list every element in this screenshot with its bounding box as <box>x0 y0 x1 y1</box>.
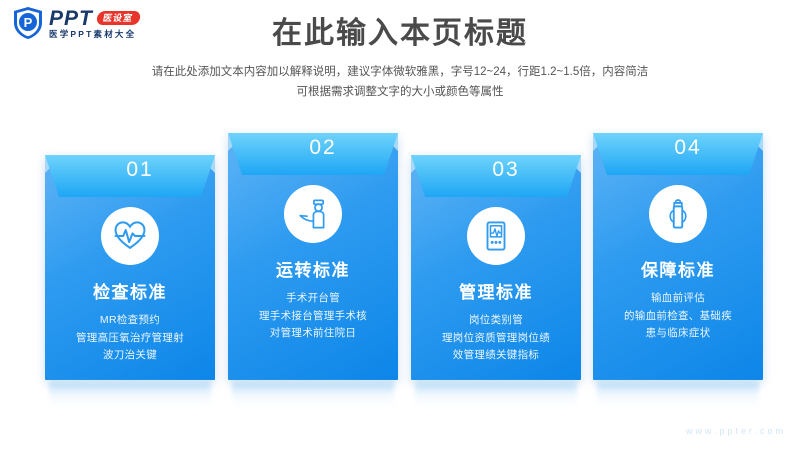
card-04-title: 保障标准 <box>641 261 715 281</box>
card-01-desc: MR检查预约 管理高压氧治疗管理射 波刀治关键 <box>76 312 184 364</box>
card-03-title: 管理标准 <box>459 283 533 303</box>
card-02-body[interactable]: 运转标准 手术开台管 理手术接台管理手术核 对管理术前住院日 <box>228 133 398 380</box>
card-02-desc: 手术开台管 理手术接台管理手术核 对管理术前住院日 <box>259 290 367 342</box>
card-01[interactable]: 检查标准 MR检查预约 管理高压氧治疗管理射 波刀治关键 <box>45 155 215 380</box>
card-04[interactable]: 保障标准 输血前评估 的输血前检查、基础疾 患与临床症状 <box>593 133 763 380</box>
card-04-desc-line-3: 患与临床症状 <box>624 325 732 342</box>
card-01-number: 01 <box>55 157 215 183</box>
card-02-desc-line-1: 手术开台管 <box>259 290 367 307</box>
card-03-desc-line-3: 效管理绩关键指标 <box>442 347 550 364</box>
card-04-desc-line-2: 的输血前检查、基础疾 <box>624 308 732 325</box>
card-02-reflection <box>232 382 394 408</box>
card-02-desc-line-3: 对管理术前住院日 <box>259 325 367 342</box>
card-02-title: 运转标准 <box>276 261 350 281</box>
card-03-number: 03 <box>421 157 581 183</box>
card-02[interactable]: 运转标准 手术开台管 理手术接台管理手术核 对管理术前住院日 <box>228 133 398 380</box>
card-03-desc-line-1: 岗位类别管 <box>442 312 550 329</box>
card-03-reflection <box>415 382 577 408</box>
card-01-title: 检查标准 <box>93 283 167 303</box>
card-03-desc: 岗位类别管 理岗位资质管理岗位绩 效管理绩关键指标 <box>442 312 550 364</box>
card-03-body[interactable]: 管理标准 岗位类别管 理岗位资质管理岗位绩 效管理绩关键指标 <box>411 155 581 380</box>
card-02-number: 02 <box>238 135 398 161</box>
card-04-desc-line-1: 输血前评估 <box>624 290 732 307</box>
card-03-desc-line-2: 理岗位资质管理岗位绩 <box>442 330 550 347</box>
blood-bag-icon <box>649 185 707 243</box>
card-04-reflection <box>597 382 759 408</box>
card-01-reflection <box>49 382 211 408</box>
site-watermark: www.ppter.com <box>686 426 786 436</box>
card-04-body[interactable]: 保障标准 输血前评估 的输血前检查、基础疾 患与临床症状 <box>593 133 763 380</box>
card-02-desc-line-2: 理手术接台管理手术核 <box>259 308 367 325</box>
card-01-desc-line-3: 波刀治关键 <box>76 347 184 364</box>
card-group: 检查标准 MR检查预约 管理高压氧治疗管理射 波刀治关键 <box>0 0 800 450</box>
nurse-hand-icon <box>284 185 342 243</box>
card-01-body[interactable]: 检查标准 MR检查预约 管理高压氧治疗管理射 波刀治关键 <box>45 155 215 380</box>
heart-pulse-icon <box>101 207 159 265</box>
ecg-monitor-icon <box>467 207 525 265</box>
card-04-number: 04 <box>603 135 763 161</box>
card-03[interactable]: 管理标准 岗位类别管 理岗位资质管理岗位绩 效管理绩关键指标 <box>411 155 581 380</box>
card-04-desc: 输血前评估 的输血前检查、基础疾 患与临床症状 <box>624 290 732 342</box>
card-01-desc-line-2: 管理高压氧治疗管理射 <box>76 330 184 347</box>
card-01-desc-line-1: MR检查预约 <box>76 312 184 329</box>
